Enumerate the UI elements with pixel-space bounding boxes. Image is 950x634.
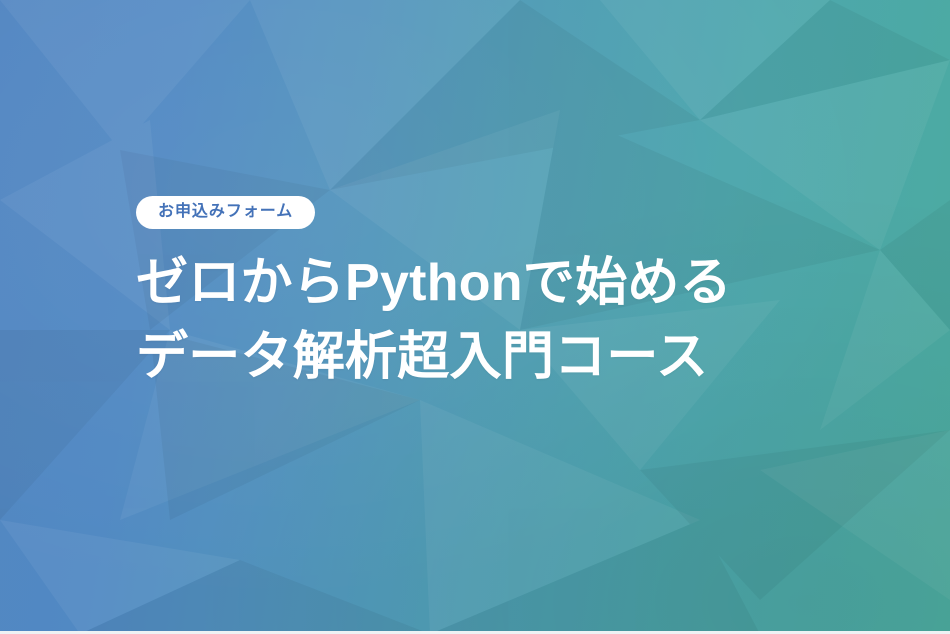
hero-content: お申込みフォーム ゼロからPythonで始める データ解析超入門コース [136, 196, 910, 395]
page-title: ゼロからPythonで始める データ解析超入門コース [136, 247, 910, 395]
hero-banner: お申込みフォーム ゼロからPythonで始める データ解析超入門コース [0, 0, 950, 634]
page-title-line-2: データ解析超入門コース [136, 321, 910, 395]
form-badge: お申込みフォーム [136, 196, 315, 229]
page-title-line-1: ゼロからPythonで始める [136, 247, 910, 321]
